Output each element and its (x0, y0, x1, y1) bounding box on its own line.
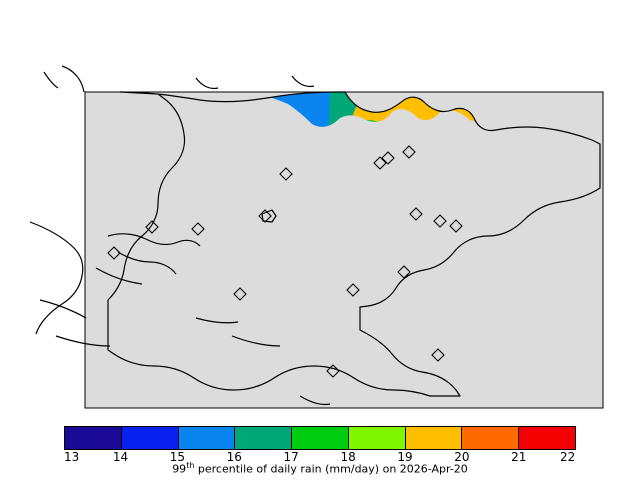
contour-map[interactable] (0, 0, 640, 415)
colorbar-band[interactable] (65, 427, 122, 449)
colorbar-caption: 99th percentile of daily rain (mm/day) o… (0, 461, 640, 476)
colorbar-band[interactable] (349, 427, 406, 449)
colorbar-band[interactable] (179, 427, 236, 449)
colorbar-band[interactable] (406, 427, 463, 449)
colorbar-band[interactable] (462, 427, 519, 449)
caption-rest: percentile of daily rain (mm/day) on 202… (194, 463, 467, 476)
colorbar-band[interactable] (292, 427, 349, 449)
colorbar-band[interactable] (235, 427, 292, 449)
colorbar-band[interactable] (519, 427, 575, 449)
weather-map-page: VictoriaWeather.ca -- Summer Total Daily… (0, 0, 640, 480)
colorbar[interactable] (64, 426, 576, 450)
colorbar-band[interactable] (122, 427, 179, 449)
map-panel[interactable] (0, 0, 640, 415)
caption-percentile-number: 99 (172, 463, 186, 476)
